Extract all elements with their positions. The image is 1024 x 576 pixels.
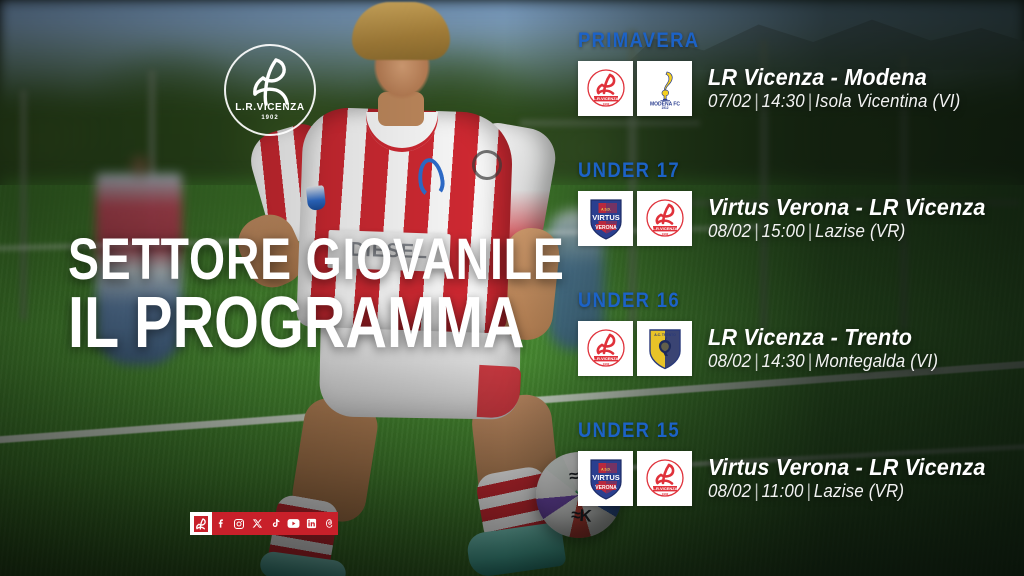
social-club-logo[interactable] [190,512,212,535]
lr-vicenza-monogram-icon [246,56,294,106]
fixture-content: VIRTUS VERONA A.S.D. [578,451,1024,506]
player-right-boot [465,522,566,576]
fixture-badges: VIRTUS VERONA A.S.D. [578,191,692,246]
fixture-match: Virtus Verona - LR Vicenza [708,454,986,480]
svg-text:A.S.D.: A.S.D. [601,467,611,471]
fixture-category: PRIMAVERA [578,30,970,51]
svg-text:A.C. TRENTO: A.C. TRENTO [654,333,676,337]
social-x-twitter[interactable] [248,512,266,535]
svg-text:A.S.D.: A.S.D. [601,207,611,211]
fixture-match: Virtus Verona - LR Vicenza [708,194,986,220]
svg-text:L.R.VICENZA: L.R.VICENZA [652,486,677,491]
fixture-row: UNDER 15 VIRTUS VERONA A.S.D. [578,420,1024,540]
svg-text:L.R.VICENZA: L.R.VICENZA [593,96,618,101]
instagram-icon [233,518,245,530]
fixture-date: 08/02 [708,221,751,241]
svg-text:VIRTUS: VIRTUS [592,472,620,481]
fixture-venue: Lazise (VR) [814,481,904,501]
svg-text:L.R.VICENZA: L.R.VICENZA [593,356,618,361]
fixture-text: Virtus Verona - LR Vicenza 08/02|15:00|L… [708,194,1003,243]
fixture-row: UNDER 16 L.R.VICEN [578,290,1024,420]
x-twitter-icon [252,518,263,529]
club-logo: L.R.VICENZA 1902 [224,44,316,136]
fixture-text: LR Vicenza - Trento 08/02|14:30|Montegal… [708,324,953,373]
trento-badge-icon: A.C. TRENTO [645,326,685,372]
social-bar [190,512,338,535]
fixture-date: 08/02 [708,351,751,371]
svg-text:VERONA: VERONA [595,224,617,230]
away-team-badge: L.R.VICENZA 1902 [637,191,692,246]
fixture-meta: 08/02|11:00|Lazise (VR) [708,480,986,503]
social-threads[interactable] [320,512,338,535]
svg-text:VIRTUS: VIRTUS [592,212,620,221]
fixture-meta: 08/02|14:30|Montegalda (VI) [708,350,938,373]
social-instagram[interactable] [230,512,248,535]
home-team-badge: L.R.VICENZA 1902 [578,61,633,116]
fixture-time: 11:00 [762,481,804,501]
lr-vicenza-badge-icon: L.R.VICENZA 1902 [642,196,688,242]
headline-line-2: IL PROGRAMMA [68,288,444,358]
player-hair [352,2,450,60]
modena-fc-badge-icon: MODENA FC 1912 [642,66,688,112]
graphic-canvas: DIESEL ≈K ≈K L.R.VICENZA 1902 SETTORE GI… [0,0,1024,576]
facebook-icon [216,518,227,529]
svg-text:1912: 1912 [661,106,668,110]
svg-text:1902: 1902 [661,492,668,496]
threads-icon [324,518,335,529]
lr-vicenza-badge-icon: L.R.VICENZA 1902 [642,456,688,502]
jersey-club-badge [306,185,326,211]
svg-text:1902: 1902 [661,232,668,236]
fixture-row: UNDER 17 VIRTUS VERONA A.S.D. [578,160,1024,290]
fixture-row: PRIMAVERA L.R.VICE [578,30,1024,160]
fixture-list: PRIMAVERA L.R.VICE [578,30,1024,540]
youtube-icon [287,518,300,529]
social-tiktok[interactable] [266,512,284,535]
away-team-badge: MODENA FC 1912 [637,61,692,116]
social-youtube[interactable] [284,512,302,535]
linkedin-icon [306,518,317,529]
fixture-meta: 07/02|14:30|Isola Vicentina (VI) [708,90,961,113]
fixture-date: 08/02 [708,481,751,501]
fixture-badges: L.R.VICENZA 1902 [578,321,692,376]
fixture-category: UNDER 17 [578,160,970,181]
fixture-match: LR Vicenza - Trento [708,324,938,350]
fixture-date: 07/02 [708,91,751,111]
fixture-category: UNDER 16 [578,290,970,311]
home-team-badge: VIRTUS VERONA A.S.D. [578,191,633,246]
fixture-venue: Montegalda (VI) [815,351,938,371]
svg-text:1902: 1902 [602,362,609,366]
logo-club-name: L.R.VICENZA [224,102,316,114]
fixture-content: L.R.VICENZA 1902 MODENA FC [578,61,1024,116]
away-team-badge: L.R.VICENZA 1902 [637,451,692,506]
fixture-category: UNDER 15 [578,420,970,441]
fixture-venue: Isola Vicentina (VI) [815,91,960,111]
logo-founded-year: 1902 [224,114,316,122]
lr-vicenza-badge-icon: L.R.VICENZA 1902 [583,326,629,372]
fixture-badges: L.R.VICENZA 1902 MODENA FC [578,61,692,116]
home-team-badge: VIRTUS VERONA A.S.D. [578,451,633,506]
svg-text:1902: 1902 [602,102,609,106]
virtus-verona-badge-icon: VIRTUS VERONA A.S.D. [585,196,627,242]
lr-vicenza-badge-icon: L.R.VICENZA 1902 [583,66,629,112]
fixture-meta: 08/02|15:00|Lazise (VR) [708,220,986,243]
fixture-time: 15:00 [762,221,805,241]
fixture-time: 14:30 [762,351,805,371]
svg-text:L.R.VICENZA: L.R.VICENZA [652,226,677,231]
fixture-match: LR Vicenza - Modena [708,64,961,90]
away-team-badge: A.C. TRENTO [637,321,692,376]
fixture-time: 14:30 [762,91,805,111]
fixture-text: Virtus Verona - LR Vicenza 08/02|11:00|L… [708,454,1003,503]
home-team-badge: L.R.VICENZA 1902 [578,321,633,376]
fixture-text: LR Vicenza - Modena 07/02|14:30|Isola Vi… [708,64,977,113]
virtus-verona-badge-icon: VIRTUS VERONA A.S.D. [585,456,627,502]
social-facebook[interactable] [212,512,230,535]
fence-post [20,90,27,320]
page-title: SETTORE GIOVANILE IL PROGRAMMA [68,232,538,358]
fixture-venue: Lazise (VR) [815,221,905,241]
lr-vicenza-mini-icon [194,516,208,532]
social-linkedin[interactable] [302,512,320,535]
fixture-content: L.R.VICENZA 1902 [578,321,1024,376]
svg-text:VERONA: VERONA [595,484,617,490]
headline-line-1: SETTORE GIOVANILE [68,232,444,288]
tiktok-icon [270,518,281,529]
fixture-content: VIRTUS VERONA A.S.D. [578,191,1024,246]
fixture-badges: VIRTUS VERONA A.S.D. [578,451,692,506]
